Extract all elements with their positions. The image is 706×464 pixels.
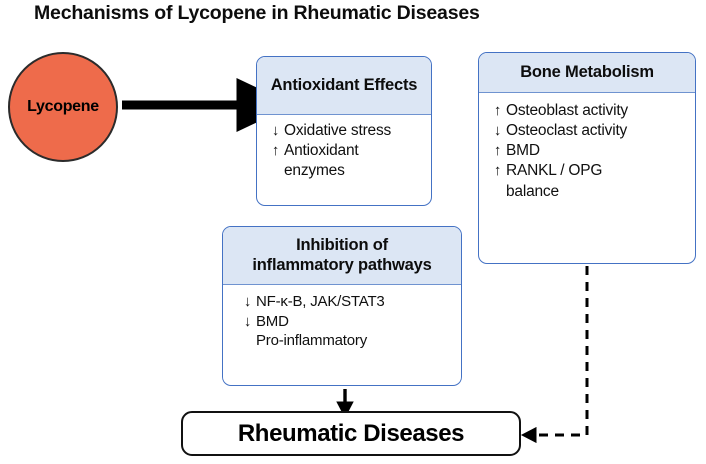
- arrow-down-icon: ↓: [267, 121, 284, 141]
- arrow-bone-to-outcome: [535, 266, 587, 435]
- node-lycopene-label: Lycopene: [27, 98, 99, 116]
- page-title: Mechanisms of Lycopene in Rheumatic Dise…: [34, 2, 480, 25]
- node-rheumatic-diseases-label: Rheumatic Diseases: [238, 420, 464, 448]
- list-item-continuation: Pro-inflammatory: [239, 331, 461, 351]
- diagram-canvas: Mechanisms of Lycopene in Rheumatic Dise…: [0, 0, 706, 464]
- arrow-down-icon: ↓: [239, 312, 256, 332]
- node-rheumatic-diseases[interactable]: Rheumatic Diseases: [181, 411, 521, 456]
- list-item: ↑ Antioxidant: [267, 141, 431, 161]
- panel-antioxidant-header: Antioxidant Effects: [257, 57, 431, 115]
- list-item-continuation: balance: [489, 182, 695, 202]
- panel-antioxidant-effects[interactable]: Antioxidant Effects ↓ Oxidative stress ↑…: [256, 56, 432, 206]
- list-item-label: BMD: [506, 141, 695, 161]
- panel-inflammation-title: Inhibition of inflammatory pathways: [252, 236, 431, 274]
- panel-inflammation-title-line1: Inhibition of: [296, 236, 388, 254]
- list-item: ↑ Osteoblast activity: [489, 101, 695, 121]
- panel-inflammation-title-line2: inflammatory pathways: [252, 256, 431, 274]
- arrow-up-icon: ↑: [489, 101, 506, 121]
- list-item-label: Osteoclast activity: [506, 121, 695, 141]
- arrow-up-icon: ↑: [267, 141, 284, 161]
- arrow-up-icon: ↑: [489, 161, 506, 181]
- list-item-continuation: enzymes: [267, 161, 431, 181]
- arrow-down-icon: ↓: [239, 292, 256, 312]
- list-item: ↓ Oxidative stress: [267, 121, 431, 141]
- list-item: ↑ RANKL / OPG: [489, 161, 695, 181]
- panel-bone-body: ↑ Osteoblast activity ↓ Osteoclast activ…: [479, 93, 695, 202]
- panel-inflammation-header: Inhibition of inflammatory pathways: [223, 227, 461, 285]
- panel-inflammation[interactable]: Inhibition of inflammatory pathways ↓ NF…: [222, 226, 462, 386]
- panel-bone-title: Bone Metabolism: [520, 63, 654, 82]
- arrow-down-icon: ↓: [489, 121, 506, 141]
- list-item-label: Antioxidant: [284, 141, 431, 161]
- list-item-label: BMD: [256, 312, 461, 332]
- node-lycopene[interactable]: Lycopene: [8, 52, 118, 162]
- list-item-label: Osteoblast activity: [506, 101, 695, 121]
- list-item: ↓ BMD: [239, 312, 461, 332]
- arrow-up-icon: ↑: [489, 141, 506, 161]
- list-item-label: Oxidative stress: [284, 121, 431, 141]
- panel-bone-header: Bone Metabolism: [479, 53, 695, 93]
- list-item-label: NF-κ-B, JAK/STAT3: [256, 292, 461, 312]
- list-item: ↓ NF-κ-B, JAK/STAT3: [239, 292, 461, 312]
- list-item: ↑ BMD: [489, 141, 695, 161]
- panel-antioxidant-body: ↓ Oxidative stress ↑ Antioxidant enzymes: [257, 115, 431, 181]
- panel-inflammation-body: ↓ NF-κ-B, JAK/STAT3 ↓ BMD Pro-inflammato…: [223, 285, 461, 351]
- panel-bone-metabolism[interactable]: Bone Metabolism ↑ Osteoblast activity ↓ …: [478, 52, 696, 264]
- panel-antioxidant-title: Antioxidant Effects: [271, 76, 418, 95]
- list-item: ↓ Osteoclast activity: [489, 121, 695, 141]
- list-item-label: RANKL / OPG: [506, 161, 695, 181]
